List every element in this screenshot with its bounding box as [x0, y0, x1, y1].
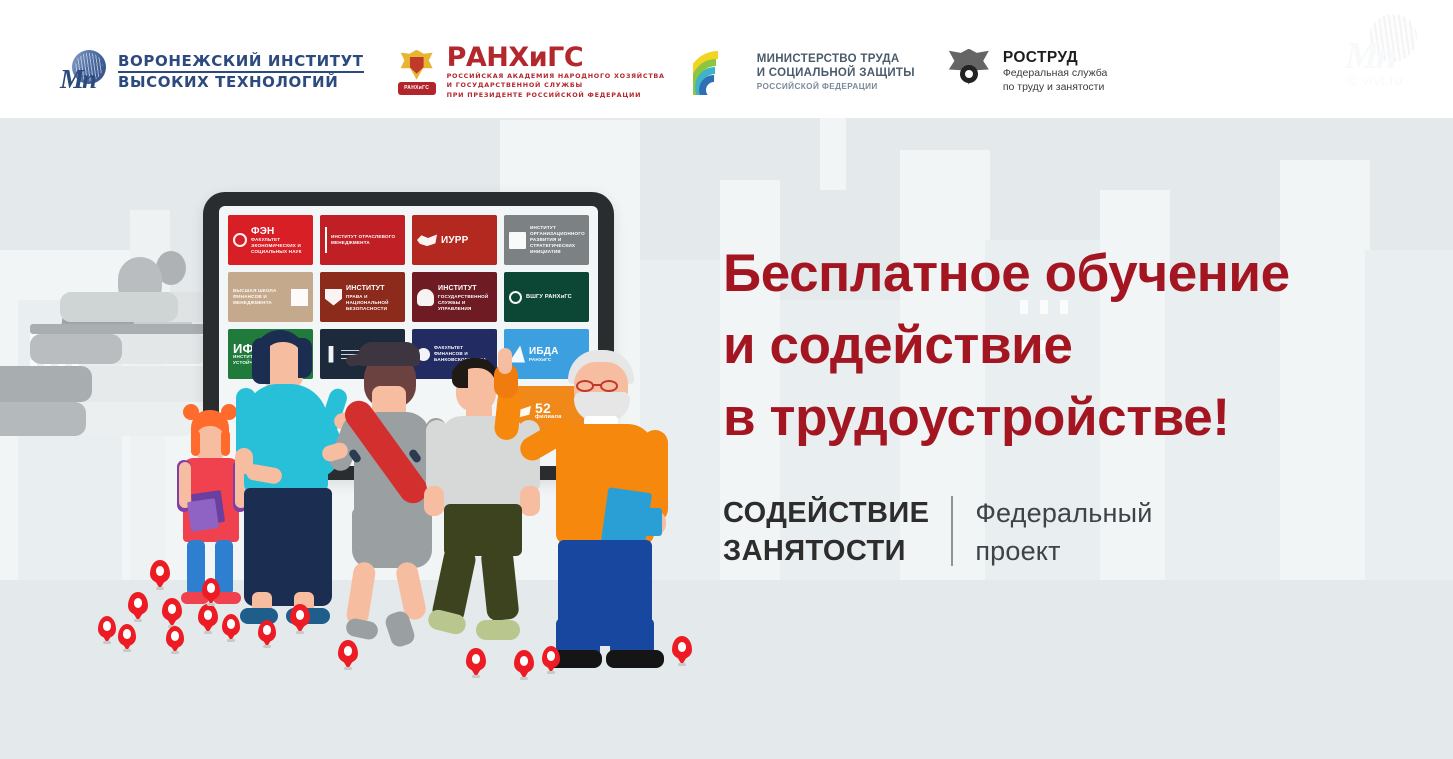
tile-label: ФЭН	[251, 226, 308, 237]
tile-label: ИУРР	[441, 235, 469, 246]
map-icon	[417, 232, 437, 249]
poster-canvas: Мп ВОРОНЕЖСКИЙ ИНСТИТУТ ВЫСОКИХ ТЕХНОЛОГ…	[0, 0, 1453, 759]
map-pin	[466, 648, 486, 678]
tile-sub: ПРАВА И НАЦИОНАЛЬНОЙ БЕЗОПАСНОСТИ	[346, 294, 400, 312]
ranepa-sub3: ПРИ ПРЕЗИДЕНТЕ РОССИЙСКОЙ ФЕДЕРАЦИИ	[447, 91, 665, 99]
rainbow-arcs-icon	[693, 49, 747, 95]
logo-vivt: Мп ВОРОНЕЖСКИЙ ИНСТИТУТ ВЫСОКИХ ТЕХНОЛОГ…	[60, 50, 364, 94]
crest-ribbon-label: РАНХиГС	[398, 82, 436, 95]
ranepa-sub2: И ГОСУДАРСТВЕННОЙ СЛУЖБЫ	[447, 81, 665, 89]
tile-otraslevogo-menedzhmenta[interactable]: ИНСТИТУТ ОТРАСЛЕВОГО МЕНЕДЖМЕНТА	[320, 215, 405, 265]
tile-iurr[interactable]: ИУРР	[412, 215, 497, 265]
tile-fen[interactable]: ФЭН ФАКУЛЬТЕТ ЭКОНОМИЧЕСКИХ И СОЦИАЛЬНЫХ…	[228, 215, 313, 265]
double-eagle-crest-icon: РАНХиГС	[394, 47, 440, 97]
mintrud-line1: МИНИСТЕРСТВО ТРУДА	[757, 52, 915, 66]
globe-icon	[509, 291, 522, 304]
logo-rostrud: РОСТРУД Федеральная служба по труду и за…	[945, 47, 1108, 97]
emblem-icon	[417, 289, 434, 306]
map-pin	[128, 592, 148, 622]
logo-ranepa: РАНХиГС РАНХиГС РОССИЙСКАЯ АКАДЕМИЯ НАРО…	[394, 44, 665, 99]
headline-line-2: и содействие	[723, 310, 1290, 382]
project-name-line2: ЗАНЯТОСТИ	[723, 532, 929, 570]
vivt-line2: ВЫСОКИХ ТЕХНОЛОГИЙ	[118, 74, 364, 91]
map-pin	[162, 598, 182, 628]
map-pin	[202, 578, 220, 606]
tile-organizacionnogo-razvitiya[interactable]: ИНСТИТУТ ОРГАНИЗАЦИОННОГО РАЗВИТИЯ И СТР…	[504, 215, 589, 265]
map-pin	[672, 636, 692, 666]
vivt-monogram-icon: Мп	[60, 50, 112, 94]
mintrud-line3: РОССИЙСКОЙ ФЕДЕРАЦИИ	[757, 82, 915, 91]
tile-sub: ИНСТИТУТ ОТРАСЛЕВОГО МЕНЕДЖМЕНТА	[331, 234, 400, 246]
map-pin	[514, 650, 534, 680]
ranepa-sub1: РОССИЙСКАЯ АКАДЕМИЯ НАРОДНОГО ХОЗЯЙСТВА	[447, 72, 665, 80]
map-pin	[198, 604, 218, 634]
watermark: Мп © vivt.ru	[1339, 12, 1435, 90]
vertical-divider	[951, 496, 953, 566]
double-eagle-emblem-icon	[945, 47, 993, 97]
federal-project-block: СОДЕЙСТВИЕ ЗАНЯТОСТИ Федеральный проект	[723, 494, 1153, 570]
map-pin	[542, 646, 560, 674]
project-name-line1: СОДЕЙСТВИЕ	[723, 494, 929, 532]
partner-logos: Мп ВОРОНЕЖСКИЙ ИНСТИТУТ ВЫСОКИХ ТЕХНОЛОГ…	[60, 44, 1107, 99]
tile-sub: ИНСТИТУТ ОРГАНИЗАЦИОННОГО РАЗВИТИЯ И СТР…	[530, 225, 585, 255]
logo-header-bar: Мп ВОРОНЕЖСКИЙ ИНСТИТУТ ВЫСОКИХ ТЕХНОЛОГ…	[0, 0, 1453, 118]
project-name: СОДЕЙСТВИЕ ЗАНЯТОСТИ	[723, 494, 929, 570]
mintrud-line2: И СОЦИАЛЬНОЙ ЗАЩИТЫ	[757, 66, 915, 80]
map-pin	[166, 626, 184, 654]
project-kind-line2: проект	[975, 532, 1152, 570]
map-pin	[290, 604, 310, 634]
tile-label: ИНСТИТУТ	[346, 283, 400, 294]
map-pin	[222, 614, 240, 642]
tile-vshfm[interactable]: ВЫСШАЯ ШКОЛА ФИНАНСОВ И МЕНЕДЖМЕНТА	[228, 272, 313, 322]
map-pin	[258, 620, 276, 648]
headline-line-3: в трудоустройстве!	[723, 382, 1290, 454]
logo-mintrud: МИНИСТЕРСТВО ТРУДА И СОЦИАЛЬНОЙ ЗАЩИТЫ Р…	[693, 49, 915, 95]
square-icon	[291, 289, 308, 306]
map-pin	[118, 624, 136, 652]
tile-sub: ВЫСШАЯ ШКОЛА ФИНАНСОВ И МЕНЕДЖМЕНТА	[233, 288, 287, 306]
tile-label: ИНСТИТУТ	[438, 283, 492, 294]
rostrud-line2: по труду и занятости	[1003, 81, 1108, 95]
book-icon	[509, 232, 526, 249]
headline-line-1: Бесплатное обучение	[723, 238, 1290, 310]
watermark-text: © vivt.ru	[1347, 72, 1403, 88]
map-pin	[338, 640, 358, 670]
map-pin	[98, 616, 116, 644]
vivt-line1: ВОРОНЕЖСКИЙ ИНСТИТУТ	[118, 53, 364, 70]
map-pin	[150, 560, 170, 590]
walking-man	[430, 358, 540, 650]
rostrud-line1: Федеральная служба	[1003, 67, 1108, 81]
tile-label: ВШГУ РАНХиГС	[526, 294, 572, 300]
fen-icon	[233, 233, 247, 247]
tile-sub: ФАКУЛЬТЕТ ЭКОНОМИЧЕСКИХ И СОЦИАЛЬНЫХ НАУ…	[251, 237, 308, 255]
tile-vshgu[interactable]: ВШГУ РАНХиГС	[504, 272, 589, 322]
elderly-man-pointing	[540, 350, 670, 664]
project-kind: Федеральный проект	[975, 494, 1152, 570]
bar-icon	[325, 227, 327, 253]
tile-gossluzhby-upravleniya[interactable]: ИНСТИТУТ ГОСУДАРСТВЕННОЙ СЛУЖБЫ И УПРАВЛ…	[412, 272, 497, 322]
project-kind-line1: Федеральный	[975, 494, 1152, 532]
ranepa-title: РАНХиГС	[447, 44, 665, 71]
shield-icon	[325, 289, 342, 306]
tile-sub: ГОСУДАРСТВЕННОЙ СЛУЖБЫ И УПРАВЛЕНИЯ	[438, 294, 492, 312]
hero-headline: Бесплатное обучение и содействие в трудо…	[723, 238, 1290, 454]
tile-prava-bezopasnosti[interactable]: ИНСТИТУТ ПРАВА И НАЦИОНАЛЬНОЙ БЕЗОПАСНОС…	[320, 272, 405, 322]
rostrud-title: РОСТРУД	[1003, 49, 1108, 67]
